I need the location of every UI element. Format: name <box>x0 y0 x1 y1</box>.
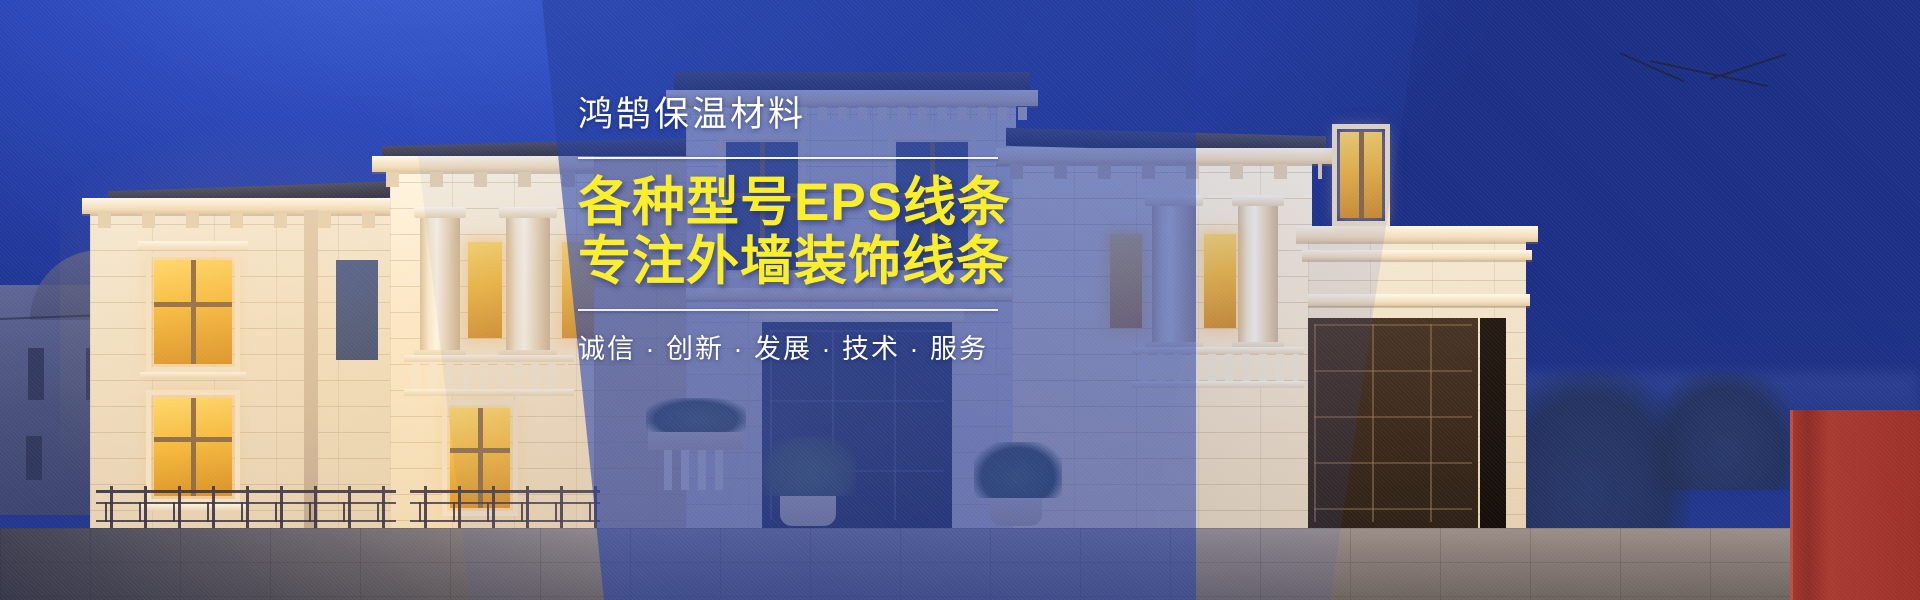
iron-fence-ornament <box>96 502 396 522</box>
red-accent-panel <box>1790 410 1920 600</box>
left-pilaster <box>304 210 318 528</box>
tagline: 诚信 · 创新 · 发展 · 技术 · 服务 <box>578 327 1198 366</box>
headline: 各种型号EPS线条 专注外墙装饰线条 <box>578 173 1198 292</box>
left-wing-window-dark <box>336 260 378 360</box>
tree-silhouette <box>1650 370 1800 490</box>
banner-copy: 鸿鹄保温材料 各种型号EPS线条 专注外墙装饰线条 诚信 · 创新 · 发展 ·… <box>578 96 1198 366</box>
background-window <box>26 436 42 480</box>
headline-line-1: 各种型号EPS线条 <box>578 173 1011 232</box>
side-door-opening <box>1480 318 1506 528</box>
headline-line-2: 专注外墙装饰线条 <box>578 232 1198 291</box>
divider-bottom <box>578 309 998 311</box>
window-sill <box>140 372 246 379</box>
window-lintel <box>138 241 248 250</box>
brand-name: 鸿鹄保温材料 <box>578 96 1198 135</box>
divider-top <box>578 157 998 159</box>
left-wing-brackets <box>98 213 418 228</box>
background-window <box>28 348 44 400</box>
promo-banner: 鸿鹄保温材料 各种型号EPS线条 专注外墙装饰线条 诚信 · 创新 · 发展 ·… <box>0 0 1920 600</box>
window-frame <box>146 252 240 372</box>
left-wing-cornice <box>82 198 428 214</box>
